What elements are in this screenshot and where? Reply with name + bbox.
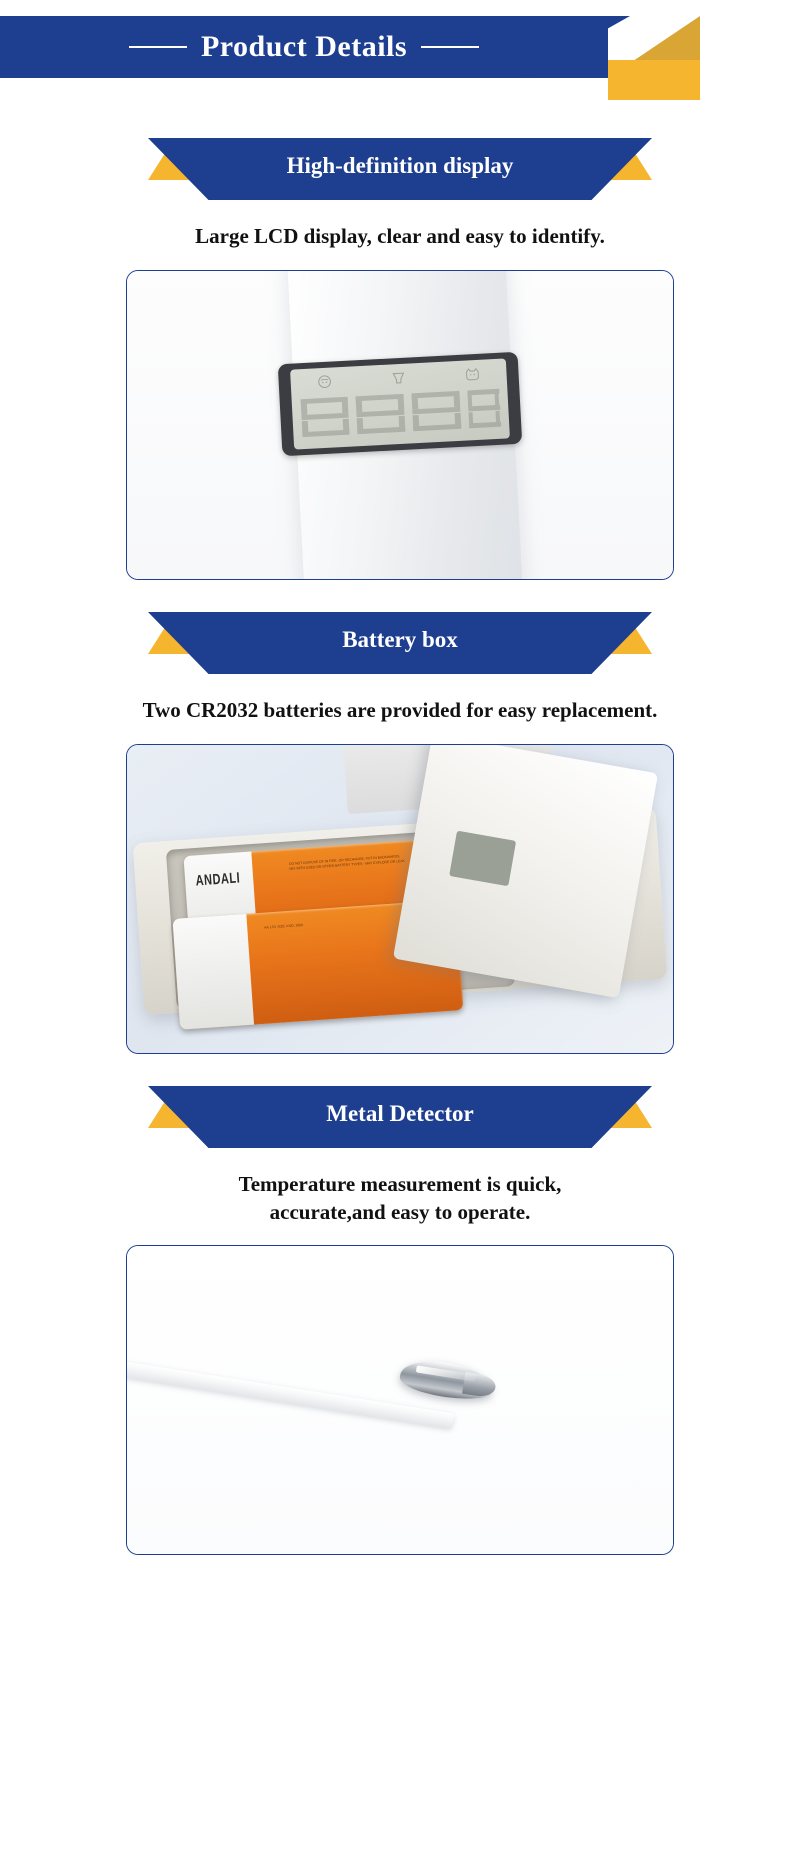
lid-latch-notch	[449, 830, 516, 885]
section-battery-box: Battery box Two CR2032 batteries are pro…	[0, 612, 800, 1054]
lcd-digit-readout	[300, 383, 501, 443]
header-content: Product Details	[0, 16, 608, 78]
page-header-banner: Product Details	[0, 0, 800, 120]
image-card-metal-probe	[126, 1245, 674, 1555]
lcd-bezel	[278, 351, 523, 456]
section-high-definition-display: High-definition display Large LCD displa…	[0, 138, 800, 580]
product-details-page: Product Details High-definition display …	[0, 0, 800, 1861]
ribbon-high-definition-display: High-definition display	[0, 138, 800, 200]
battery-cover-lid	[393, 744, 658, 997]
photo-battery-compartment: ANDALI DO NOT DISPOSE OF IN FIRE, OR REC…	[127, 745, 673, 1053]
lcd-screen	[290, 358, 510, 449]
lcd-unit-digit	[467, 388, 501, 428]
battery-brand-label: ANDALI	[195, 870, 241, 889]
lcd-forehead-mode-icon	[303, 372, 346, 392]
lcd-digit	[356, 393, 406, 434]
ribbon-body: Metal Detector	[148, 1086, 652, 1148]
lcd-object-mode-icon	[377, 368, 420, 388]
section-caption: Large LCD display, clear and easy to ide…	[0, 222, 800, 250]
ribbon-battery-box: Battery box	[0, 612, 800, 674]
section-caption: Two CR2032 batteries are provided for ea…	[0, 696, 800, 724]
section-caption-line2: accurate,and easy to operate.	[0, 1198, 800, 1226]
section-title: Battery box	[342, 628, 458, 651]
divider-rule-right-icon	[421, 46, 479, 48]
photo-metal-probe	[127, 1246, 673, 1554]
divider-rule-left-icon	[129, 46, 187, 48]
battery-label-band	[173, 913, 254, 1029]
image-card-lcd-display	[126, 270, 674, 580]
lcd-digit	[300, 396, 350, 437]
ribbon-body: High-definition display	[148, 138, 652, 200]
header-gold-rectangle	[608, 60, 700, 100]
section-metal-detector: Metal Detector Temperature measurement i…	[0, 1086, 800, 1555]
section-title: High-definition display	[287, 154, 514, 177]
ribbon-metal-detector: Metal Detector	[0, 1086, 800, 1148]
section-title: Metal Detector	[326, 1102, 473, 1125]
image-card-battery-box: ANDALI DO NOT DISPOSE OF IN FIRE, OR REC…	[126, 744, 674, 1054]
lcd-digit	[411, 390, 461, 431]
page-title: Product Details	[201, 32, 407, 62]
section-caption-line1: Temperature measurement is quick,	[0, 1170, 800, 1198]
ribbon-body: Battery box	[148, 612, 652, 674]
photo-lcd-display	[127, 271, 673, 579]
battery-spec-text: AA 1.5V SIZE 4 NO. 2009	[264, 917, 397, 1010]
lcd-memory-mode-icon	[451, 364, 494, 384]
probe-stainless-tip	[398, 1356, 495, 1404]
